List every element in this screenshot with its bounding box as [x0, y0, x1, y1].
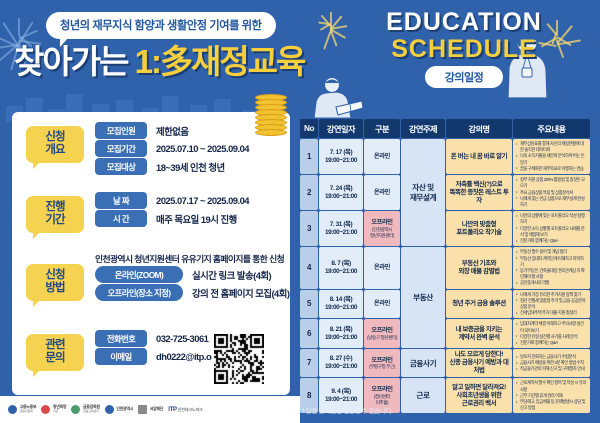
tag-line-2: 개요: [26, 144, 84, 157]
headline-part-yellow: 1:多재정교육: [135, 43, 305, 80]
lecture-line: 부동산 기초와: [447, 260, 511, 268]
cell-date: 7. 17 (목)19:00~21:00: [319, 139, 363, 174]
lecture-line: 계약서 완벽 분석: [447, 334, 511, 342]
info-row-value: 실시간 링크 발송(4회): [192, 268, 271, 282]
cell-gubun: 온라인: [364, 175, 400, 210]
date-time: 19:00~21:00: [320, 193, 362, 201]
footer-logo-korea-gov: 고용노동부금융위원회: [8, 405, 36, 414]
gubun-location: (부평구청 부근): [365, 364, 399, 370]
logo-text: 서암재단: [150, 407, 164, 412]
gubun-type: 온라인: [365, 189, 399, 197]
lecture-line: 청년 주거 금융 솔루션: [447, 300, 511, 308]
detail-bullet: 공인중개사의 역할: [516, 280, 587, 286]
info-section-lead: 인천광역시 청년지원센터 유유기지 홈페이지를 통한 신청: [95, 252, 284, 265]
date-time: 19:00~21:00: [320, 229, 362, 237]
date-day: 7. 24 (목): [320, 185, 362, 193]
detail-bullet: 근로계약서 필수 확인 항목 및 작성 시 유의사항: [516, 380, 587, 392]
detail-bullet: 임대차계약 체결 이해하고 주의사항 실전이 되어보기: [516, 321, 587, 333]
schedule-table-container: No강연일자구분강연주제강의명주요내용 17. 17 (목)19:00~21:0…: [299, 118, 591, 414]
tag-line-1: 진행: [26, 201, 84, 214]
table-row[interactable]: 78. 27 (수)19:00~21:00오프라인(부평구청 부근)금융사기나도…: [300, 349, 590, 377]
cell-topic: 부동산: [401, 247, 445, 348]
detail-bullet: 재무상담표를 통해 자신의 재정현황에 대한 솔직한 데이터화: [516, 141, 587, 153]
topic-line-1: 자산 및: [402, 183, 444, 192]
info-row: 오프라인(장소 지정)강의 전 홈페이지 모집(4회): [95, 284, 290, 301]
cell-no: 4: [300, 247, 318, 288]
logo-mark-icon: [105, 405, 114, 414]
table-row[interactable]: 48. 7 (목)19:00~21:00온라인부동산부동산 기초와외장 매물 감…: [300, 247, 590, 288]
cell-lecture: 내 보증금을 지키는계약서 완벽 분석: [446, 319, 512, 348]
date-time: 19:00~21:00: [320, 363, 362, 371]
logo-mark-icon: [8, 405, 17, 414]
detail-bullet: 나에게 맞는 연금 상품으로 재무설계 완성하기: [516, 196, 587, 208]
cell-details: 재무상담표를 통해 자신의 재정현황에 대한 솔직한 데이터화나의 소득지출을 …: [513, 139, 590, 174]
info-row-label: 날 짜: [95, 192, 147, 209]
info-row-label: 시 간: [95, 210, 147, 227]
date-day: 8. 21 (목): [320, 326, 362, 334]
lecture-line: 돈 버는 내 꿈 바로 알기: [447, 153, 511, 161]
footer-logo-seoam: 서암재단: [138, 405, 163, 414]
info-row: 모집기간2025.07.10 ~ 2025.09.04: [95, 140, 249, 157]
topic-line-1: 금융사기: [402, 359, 444, 368]
detail-bullet: 청년 전월세 맞춤형 주거 및 금융 공공분야 상품 분석: [516, 298, 587, 310]
cell-gubun: 오프라인(인천광역시청년지원센터): [364, 211, 400, 246]
cell-gubun: 오프라인(부평구청 부근): [364, 349, 400, 377]
date-day: 8. 14 (목): [320, 296, 362, 304]
cell-topic: 자산 및재무설계: [401, 139, 445, 246]
cell-date: 8. 7 (목)19:00~21:00: [319, 247, 363, 288]
gubun-type: 온라인: [365, 264, 399, 272]
title-schedule: SCHEDULE: [344, 36, 584, 62]
tag-line-1: 신청: [26, 269, 84, 282]
table-header-강의명: 강의명: [446, 119, 512, 138]
logo-mark-icon: [138, 405, 147, 414]
info-row: 시 간매주 목요일 19시 진행: [95, 210, 237, 227]
logo-mark-icon: [71, 405, 80, 414]
cell-no: 5: [300, 290, 318, 319]
info-row-value: 2025.07.10 ~ 2025.09.04: [156, 143, 249, 154]
info-section-tag: 신청개요: [26, 126, 84, 163]
tagline-bubble: 청년의 재무지식 함양과 생활안정 기여를 위한: [46, 12, 276, 39]
detail-bullet: 다양한 소득 상황별 포트폴리오 사례를 분석 및 체험해 보기: [516, 226, 587, 238]
detail-bullet: 전문가와 함께하는 Q&A: [516, 238, 587, 244]
info-row-value: 제한없음: [156, 124, 189, 138]
topic-line-1: 근로: [402, 391, 444, 400]
lecture-line: 근로권리 백서: [447, 400, 511, 408]
tag-line-2: 방법: [26, 282, 84, 295]
cell-details: 나에게 가장 유리한 주거지원 정책 찾기청년 전월세 맞춤형 주거 및 금융 …: [513, 290, 590, 319]
cell-details: 날로지 진화하는 금융사기 수법분석금융사기 예방을 위한 3분 확인 방법 수…: [513, 349, 590, 377]
cell-lecture: 청년 주거 금융 솔루션: [446, 290, 512, 319]
cell-lecture: 나만의 맞춤형포트폴리오 작기술: [446, 211, 512, 246]
tag-line-1: 신청: [26, 131, 84, 144]
date-time: 19:00~21:00: [320, 334, 362, 342]
cell-no: 3: [300, 211, 318, 246]
gubun-location: (인천광역시청년지원센터): [365, 227, 399, 238]
education-schedule-title: EDUCATION SCHEDULE 강의일정: [344, 10, 584, 88]
table-footnote: * 일정 및 내용은 변동될 수 있습니다.: [302, 406, 393, 415]
cell-details: 부동산 필수 용어 및 개념 정리부동산 임대차 계약단계 이해하고 파악하기등…: [513, 247, 590, 288]
page-title: 찾아가는 1:多재정교육: [14, 45, 304, 78]
date-time: 19:00~21:00: [320, 396, 362, 404]
detail-bullet: 등기부등본, 건축물대장 권리관계상 꼭 확인해야 할 사항: [516, 268, 587, 280]
itp-logo-text: ITP 인천테크노파크: [168, 407, 202, 413]
info-row-value: 매주 목요일 19시 진행: [156, 212, 237, 226]
cell-lecture: 알고 일하면 달라져요!사회초년생을 위한근로권리 백서: [446, 378, 512, 413]
cell-no: 6: [300, 319, 318, 348]
coin-stack-illustration: [255, 96, 287, 136]
date-day: 7. 31 (목): [320, 221, 362, 229]
cell-topic: 근로: [401, 378, 445, 413]
qr-code[interactable]: [212, 332, 266, 386]
cell-lecture: 나도 모르게 당한다!신종 금융사기 예방과 대처법: [446, 349, 512, 377]
footer-logos: 고용노동부금융위원회청년희망적금금융감독원금융교육센터인천광역시서암재단ITP …: [0, 396, 300, 423]
cell-details: 임대차계약 체결 이해하고 주의사항 실전이 되어보기다양한 유형 실전별 사기…: [513, 319, 590, 348]
table-row[interactable]: 68. 21 (목)19:00~21:00오프라인(남동구 청년센터)내 보증금…: [300, 319, 590, 348]
cell-gubun: 온라인: [364, 290, 400, 319]
info-row-label: 오프라인(장소 지정): [95, 284, 183, 301]
cell-details: 나만의 상황에 맞는 포트폴리오 작성 실행하기다양한 소득 상황별 포트폴리오…: [513, 211, 590, 246]
title-pill-korean: 강의일정: [425, 66, 503, 88]
gubun-type: 오프라인: [365, 327, 399, 335]
date-day: 9. 4 (목): [320, 388, 362, 396]
footer-logo-finance-edu: 금융감독원금융교육센터: [71, 405, 99, 414]
table-row[interactable]: 58. 14 (목)19:00~21:00온라인청년 주거 금융 솔루션나에게 …: [300, 290, 590, 319]
cell-date: 8. 27 (수)19:00~21:00: [319, 349, 363, 377]
detail-bullet: 작금융기관의 피해 신고 및 구제절차 안내: [516, 366, 587, 372]
logo-subtext: 금융교육센터: [83, 410, 100, 414]
tag-line-2: 문의: [26, 352, 84, 365]
footer-logo-itp: ITP 인천테크노파크: [168, 407, 202, 413]
logo-text: 금융감독원금융교육센터: [83, 405, 100, 414]
table-header-row: No강연일자구분강연주제강의명주요내용: [300, 119, 590, 138]
lecture-line: 외장 매물 감별법: [447, 268, 511, 276]
cell-details: 근로계약서 필수 확인 항목 및 작성 시 유의사항근무 기간별 휴게 권리 이…: [513, 378, 590, 413]
gubun-type: 온라인: [365, 153, 399, 161]
gubun-location: (남동구 청년센터): [365, 335, 399, 341]
detail-bullet: 부동산 임대차 계약단계 이해하고 파악하기: [516, 256, 587, 268]
info-row-value: 18~39세 인천 청년: [156, 160, 225, 174]
table-row[interactable]: 27. 24 (목)19:00~21:00온라인저축률 백신(?)으로똑똑한 종…: [300, 175, 590, 210]
info-row: 모집인원제한없음: [95, 122, 189, 139]
table-row[interactable]: 17. 17 (목)19:00~21:00온라인자산 및재무설계돈 버는 내 꿈…: [300, 139, 590, 174]
lecture-line: 내 보증금을 지키는: [447, 326, 511, 334]
cell-gubun: 온라인: [364, 247, 400, 288]
info-row-label: 모집기간: [95, 140, 147, 157]
date-time: 19:00~21:00: [320, 304, 362, 312]
lecture-line: 나만의 맞춤형: [447, 221, 511, 229]
detail-bullet: 정부 지원 상품 200% 활용법 및 종잣돈 모으기: [516, 177, 587, 189]
title-education: EDUCATION: [344, 10, 584, 36]
poster-root: 청년의 재무지식 함양과 생활안정 기여를 위한 찾아가는 1:多재정교육 ED…: [0, 0, 600, 423]
info-row-value: 2025.07.17 ~ 2025.09.04: [156, 195, 249, 206]
logo-text: 청년희망적금: [53, 405, 67, 414]
table-header-No: No: [300, 119, 318, 138]
info-row-label: 모집대상: [95, 158, 147, 175]
date-day: 8. 7 (목): [320, 260, 362, 268]
date-day: 8. 27 (수): [320, 355, 362, 363]
date-day: 7. 17 (목): [320, 149, 362, 157]
lecture-line: 포트폴리오 작기술: [447, 229, 511, 237]
topic-line-2: 재무설계: [402, 193, 444, 202]
info-row-label: 전화번호: [95, 330, 147, 347]
info-row-value: 032-725-3061: [156, 333, 208, 344]
footer-logo-incheon-city: 인천광역시: [105, 405, 133, 414]
cell-date: 8. 21 (목)19:00~21:00: [319, 319, 363, 348]
footer-logo-youth-center: 청년희망적금: [41, 405, 66, 414]
gubun-type: 온라인: [365, 300, 399, 308]
info-section-tag: 신청방법: [26, 264, 84, 301]
table-header-구분: 구분: [364, 119, 400, 138]
logo-text: 인천광역시: [116, 407, 133, 412]
cell-no: 7: [300, 349, 318, 377]
cell-lecture: 저축률 백신(?)으로똑똑한 종잣돈 레스트 투자: [446, 175, 512, 210]
info-section-tag: 진행기간: [26, 196, 84, 233]
detail-bullet: 전문가와 함께하는 Q&A: [516, 340, 587, 346]
cell-gubun: 오프라인(남동구 청년센터): [364, 319, 400, 348]
cell-lecture: 부동산 기초와외장 매물 감별법: [446, 247, 512, 288]
info-row: 날 짜2025.07.17 ~ 2025.09.04: [95, 192, 249, 209]
info-row-label: 온라인(ZOOM): [95, 266, 183, 283]
info-row: 전화번호032-725-3061: [95, 330, 208, 347]
logo-mark-icon: [41, 405, 50, 414]
cell-date: 7. 31 (목)19:00~21:00: [319, 211, 363, 246]
cell-details: 정부 지원 상품 200% 활용법 및 종잣돈 모으기주요 금융상품 특징 및 …: [513, 175, 590, 210]
info-row: 모집대상18~39세 인천 청년: [95, 158, 225, 175]
table-header-강연주제: 강연주제: [401, 119, 445, 138]
detail-bullet: 나의 소득지출을 세분화 분석하여 버는 돈 알기: [516, 153, 587, 165]
table-body: 17. 17 (목)19:00~21:00온라인자산 및재무설계돈 버는 내 꿈…: [300, 139, 590, 413]
cell-no: 1: [300, 139, 318, 174]
info-row: 이메일dh0222@itp.or.kr: [95, 348, 224, 365]
logo-subtext: 금융위원회: [20, 410, 37, 414]
logo-subtext: 적금: [53, 410, 67, 414]
gubun-type: 오프라인: [365, 386, 399, 394]
lecture-line: 똑똑한 종잣돈 레스트 투자: [447, 189, 511, 205]
lecture-line: 신종 금융사기 예방과 대처법: [447, 359, 511, 375]
detail-bullet: 전세임대주택 주거 대출 지원 총정리: [516, 310, 587, 316]
tag-line-2: 기간: [26, 214, 84, 227]
gubun-location: (청년센터미추홀): [365, 394, 399, 405]
lecture-line: 저축률 백신(?)으로: [447, 181, 511, 189]
cell-topic: 금융사기: [401, 349, 445, 377]
gubun-type: 오프라인: [365, 219, 399, 227]
table-header-주요내용: 주요내용: [513, 119, 590, 138]
date-time: 19:00~21:00: [320, 268, 362, 276]
date-time: 19:00~21:00: [320, 157, 362, 165]
lecture-line: 알고 일하면 달라져요!: [447, 384, 511, 392]
cell-date: 7. 24 (목)19:00~21:00: [319, 175, 363, 210]
topic-line-1: 부동산: [402, 293, 444, 302]
cell-lecture: 돈 버는 내 꿈 바로 알기: [446, 139, 512, 174]
info-row: 온라인(ZOOM)실시간 링크 발송(4회): [95, 266, 271, 283]
info-row-value: 강의 전 홈페이지 모집(4회): [192, 286, 290, 300]
detail-bullet: 꿈을 구체화한 재무목표로 이행하는 연습: [516, 166, 587, 172]
logo-text: 고용노동부금융위원회: [20, 405, 37, 414]
cell-date: 8. 14 (목)19:00~21:00: [319, 290, 363, 319]
cell-no: 2: [300, 175, 318, 210]
lecture-line: 사회초년생을 위한: [447, 392, 511, 400]
table-header-강연일자: 강연일자: [319, 119, 363, 138]
info-row-label: 이메일: [95, 348, 147, 365]
cell-gubun: 온라인: [364, 139, 400, 174]
schedule-table: No강연일자구분강연주제강의명주요내용 17. 17 (목)19:00~21:0…: [299, 118, 591, 414]
tag-line-1: 관련: [26, 339, 84, 352]
detail-bullet: 부당해고, 임금체불 등 문제발생시 상담 및 신고 방법: [516, 399, 587, 411]
info-section-tag: 관련문의: [26, 334, 84, 371]
headline-part-white: 찾아가는: [14, 43, 135, 80]
info-row-label: 모집인원: [95, 122, 147, 139]
table-row[interactable]: 37. 31 (목)19:00~21:00오프라인(인천광역시청년지원센터)나만…: [300, 211, 590, 246]
detail-bullet: 나만의 상황에 맞는 포트폴리오 작성 실행하기: [516, 213, 587, 225]
